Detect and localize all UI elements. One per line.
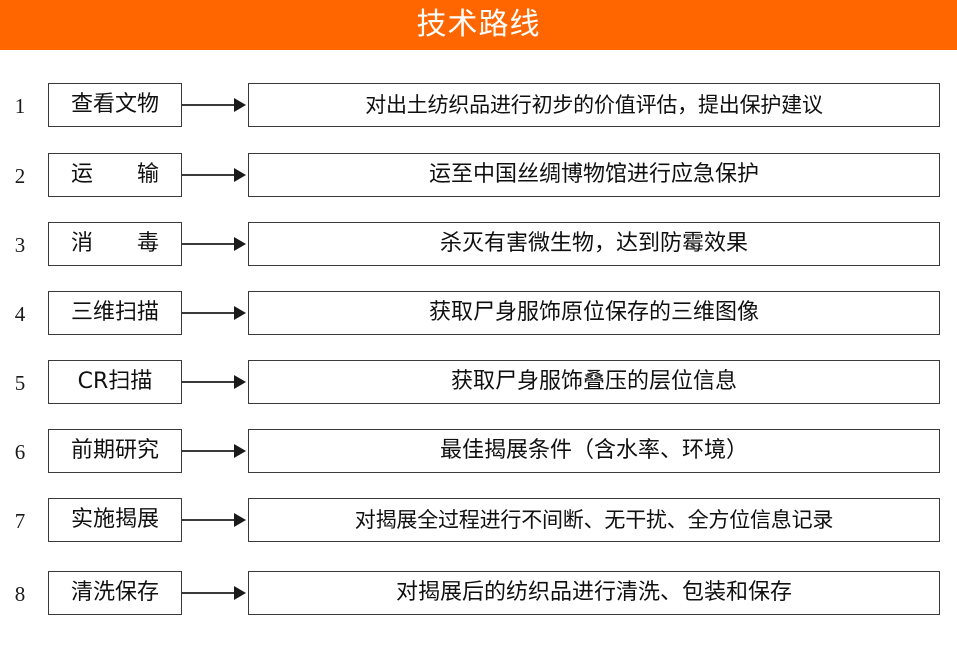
step-label: 查看文物 — [71, 94, 159, 116]
description-box[interactable]: 获取尸身服饰原位保存的三维图像 — [248, 291, 940, 335]
arrow-shaft — [182, 104, 236, 106]
step-label: 前期研究 — [71, 440, 159, 462]
description-box[interactable]: 对揭展全过程进行不间断、无干扰、全方位信息记录 — [248, 498, 940, 542]
step-label: 实施揭展 — [71, 509, 159, 531]
description-box[interactable]: 杀灭有害微生物，达到防霉效果 — [248, 222, 940, 266]
step-label: 运 输 — [71, 164, 159, 186]
description-label: 运至中国丝绸博物馆进行应急保护 — [429, 164, 759, 186]
row-number: 2 — [0, 153, 40, 199]
row-number: 3 — [0, 222, 40, 268]
description-label: 获取尸身服饰叠压的层位信息 — [451, 371, 737, 393]
description-label: 获取尸身服饰原位保存的三维图像 — [429, 302, 759, 324]
arrow-head — [234, 168, 246, 182]
row-number: 4 — [0, 291, 40, 337]
arrow-right-icon — [182, 153, 248, 197]
arrow-right-icon — [182, 360, 248, 404]
description-label: 最佳揭展条件（含水率、环境） — [440, 440, 748, 462]
step-box[interactable]: 实施揭展 — [48, 498, 182, 542]
arrow-shaft — [182, 450, 236, 452]
flow-row: 4 三维扫描 获取尸身服饰原位保存的三维图像 — [0, 291, 957, 337]
step-box[interactable]: 运 输 — [48, 153, 182, 197]
arrow-right-icon — [182, 571, 248, 615]
description-box[interactable]: 获取尸身服饰叠压的层位信息 — [248, 360, 940, 404]
description-box[interactable]: 对揭展后的纺织品进行清洗、包装和保存 — [248, 571, 940, 615]
step-box[interactable]: CR扫描 — [48, 360, 182, 404]
row-number: 8 — [0, 571, 40, 617]
step-box[interactable]: 查看文物 — [48, 83, 182, 127]
row-number: 5 — [0, 360, 40, 406]
flow-row: 6 前期研究 最佳揭展条件（含水率、环境） — [0, 429, 957, 475]
arrow-shaft — [182, 381, 236, 383]
description-box[interactable]: 最佳揭展条件（含水率、环境） — [248, 429, 940, 473]
arrow-shaft — [182, 519, 236, 521]
arrow-right-icon — [182, 83, 248, 127]
arrow-right-icon — [182, 291, 248, 335]
arrow-right-icon — [182, 222, 248, 266]
arrow-head — [234, 98, 246, 112]
description-label: 杀灭有害微生物，达到防霉效果 — [440, 233, 748, 255]
description-label: 对出土纺织品进行初步的价值评估，提出保护建议 — [365, 95, 823, 116]
page-title: 技术路线 — [417, 10, 541, 40]
flowchart: 1 查看文物 对出土纺织品进行初步的价值评估，提出保护建议 2 运 输 运至中国… — [0, 50, 957, 645]
arrow-right-icon — [182, 429, 248, 473]
arrow-head — [234, 306, 246, 320]
arrow-shaft — [182, 592, 236, 594]
flow-row: 8 清洗保存 对揭展后的纺织品进行清洗、包装和保存 — [0, 571, 957, 617]
step-box[interactable]: 前期研究 — [48, 429, 182, 473]
arrow-head — [234, 444, 246, 458]
flow-row: 7 实施揭展 对揭展全过程进行不间断、无干扰、全方位信息记录 — [0, 498, 957, 544]
flow-row: 5 CR扫描 获取尸身服饰叠压的层位信息 — [0, 360, 957, 406]
row-number: 1 — [0, 83, 40, 129]
arrow-head — [234, 375, 246, 389]
arrow-shaft — [182, 174, 236, 176]
arrow-right-icon — [182, 498, 248, 542]
flow-row: 1 查看文物 对出土纺织品进行初步的价值评估，提出保护建议 — [0, 83, 957, 129]
arrow-head — [234, 586, 246, 600]
flow-row: 2 运 输 运至中国丝绸博物馆进行应急保护 — [0, 153, 957, 199]
description-box[interactable]: 运至中国丝绸博物馆进行应急保护 — [248, 153, 940, 197]
step-label: 消 毒 — [71, 233, 159, 255]
arrow-shaft — [182, 312, 236, 314]
description-box[interactable]: 对出土纺织品进行初步的价值评估，提出保护建议 — [248, 83, 940, 127]
arrow-shaft — [182, 243, 236, 245]
step-label: 三维扫描 — [71, 302, 159, 324]
step-label: 清洗保存 — [71, 582, 159, 604]
step-label: CR扫描 — [78, 371, 153, 393]
description-label: 对揭展后的纺织品进行清洗、包装和保存 — [396, 582, 792, 604]
description-label: 对揭展全过程进行不间断、无干扰、全方位信息记录 — [355, 510, 833, 531]
row-number: 7 — [0, 498, 40, 544]
step-box[interactable]: 消 毒 — [48, 222, 182, 266]
arrow-head — [234, 237, 246, 251]
flow-row: 3 消 毒 杀灭有害微生物，达到防霉效果 — [0, 222, 957, 268]
row-number: 6 — [0, 429, 40, 475]
title-banner: 技术路线 — [0, 0, 957, 50]
arrow-head — [234, 513, 246, 527]
step-box[interactable]: 清洗保存 — [48, 571, 182, 615]
step-box[interactable]: 三维扫描 — [48, 291, 182, 335]
